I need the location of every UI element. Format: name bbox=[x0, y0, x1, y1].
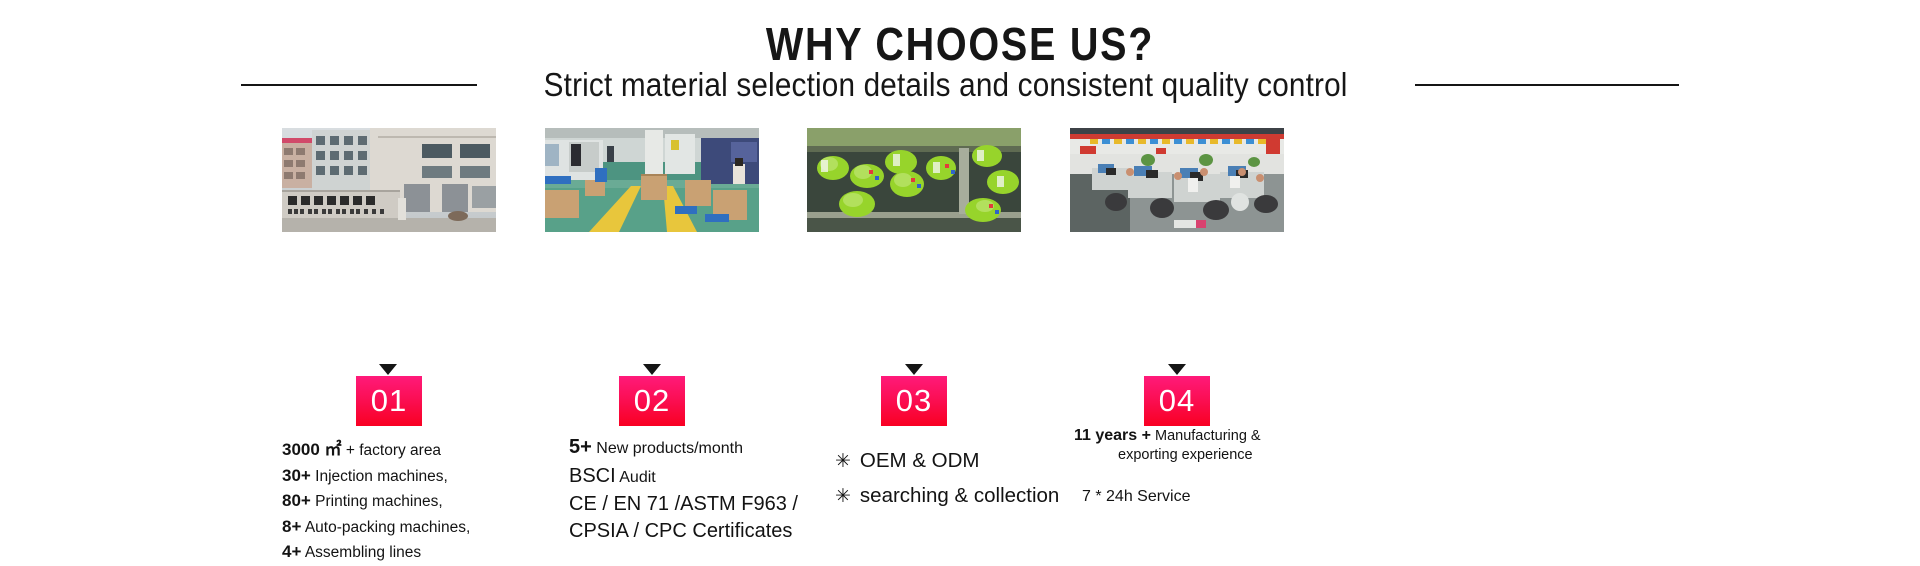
feature-column-4: 04 11 years + Manufacturing & exporting … bbox=[1070, 128, 1284, 232]
fact-item: ✳OEM & ODM bbox=[835, 444, 1059, 479]
down-arrow-icon-2 bbox=[643, 364, 661, 375]
step-badge-3: 03 bbox=[881, 376, 947, 426]
fact-item: 8+ Auto-packing machines, bbox=[282, 515, 470, 541]
facts-list-3: ✳OEM & ODM ✳searching & collection bbox=[835, 444, 1059, 514]
step-badge-2: 02 bbox=[619, 376, 685, 426]
fact-lead: 30+ bbox=[282, 466, 311, 485]
fact-lead: 11 years + bbox=[1074, 427, 1151, 444]
step-badge-4: 04 bbox=[1144, 376, 1210, 426]
page-title: WHY CHOOSE US? bbox=[134, 20, 1785, 68]
why-choose-us-banner: WHY CHOOSE US? Strict material selection… bbox=[0, 0, 1920, 514]
fact-item: ✳searching & collection bbox=[835, 479, 1059, 514]
fact-item: 3000 ㎡ + factory area bbox=[282, 438, 470, 464]
fact-item: 7 * 24h Service bbox=[1074, 487, 1261, 507]
fact-lead: 5+ bbox=[569, 436, 592, 458]
fact-rest: + factory area bbox=[342, 442, 442, 459]
step-badge-1: 01 bbox=[356, 376, 422, 426]
photo-conveyor-products bbox=[807, 128, 1021, 232]
fact-rest: Assembling lines bbox=[301, 544, 421, 561]
photo-office-workspace bbox=[1070, 128, 1284, 232]
fact-text: OEM & ODM bbox=[860, 449, 980, 472]
fact-rest: Auto-packing machines, bbox=[301, 519, 470, 536]
fact-item: BSCI Audit bbox=[569, 463, 798, 492]
asterisk-bullet-icon: ✳ bbox=[835, 486, 851, 507]
fact-item: 4+ Assembling lines bbox=[282, 540, 470, 566]
fact-rest: Manufacturing & bbox=[1151, 428, 1261, 444]
fact-lead: 3000 ㎡ bbox=[282, 440, 342, 459]
fact-rest: New products/month bbox=[592, 440, 743, 457]
spacer bbox=[1074, 465, 1261, 487]
feature-column-3: 03 ✳OEM & ODM ✳searching & collection bbox=[807, 128, 1021, 232]
down-arrow-icon-1 bbox=[379, 364, 397, 375]
fact-rest: Injection machines, bbox=[311, 468, 448, 485]
fact-rest: Audit bbox=[616, 469, 656, 486]
subtitle-row: Strict material selection details and co… bbox=[0, 66, 1920, 104]
fact-lead: 80+ bbox=[282, 491, 311, 510]
feature-column-1: 01 3000 ㎡ + factory area 30+ Injection m… bbox=[282, 128, 496, 232]
fact-lead: BSCI bbox=[569, 465, 616, 487]
fact-text: searching & collection bbox=[860, 484, 1059, 507]
facts-list-2: 5+ New products/month BSCI Audit CE / EN… bbox=[569, 434, 798, 544]
fact-lead: 8+ bbox=[282, 517, 301, 536]
facts-list-1: 3000 ㎡ + factory area 30+ Injection mach… bbox=[282, 438, 470, 566]
fact-lead: 4+ bbox=[282, 542, 301, 561]
photo-production-floor bbox=[545, 128, 759, 232]
fact-item: 80+ Printing machines, bbox=[282, 489, 470, 515]
fact-lead: CE / EN 71 /ASTM F963 / bbox=[569, 493, 798, 515]
asterisk-bullet-icon: ✳ bbox=[835, 451, 851, 472]
down-arrow-icon-3 bbox=[905, 364, 923, 375]
fact-rest: Printing machines, bbox=[311, 493, 443, 510]
fact-item: CPSIA / CPC Certificates bbox=[569, 518, 798, 545]
rule-left bbox=[241, 84, 477, 86]
fact-item: 11 years + Manufacturing & exporting exp… bbox=[1074, 426, 1261, 465]
fact-rest-2: exporting experience bbox=[1074, 446, 1261, 465]
fact-lead: CPSIA / CPC Certificates bbox=[569, 520, 792, 542]
down-arrow-icon-4 bbox=[1168, 364, 1186, 375]
facts-list-4: 11 years + Manufacturing & exporting exp… bbox=[1074, 426, 1261, 507]
fact-item: 5+ New products/month bbox=[569, 434, 798, 463]
feature-column-2: 02 5+ New products/month BSCI Audit CE /… bbox=[545, 128, 759, 232]
rule-right bbox=[1415, 84, 1679, 86]
fact-item: 30+ Injection machines, bbox=[282, 464, 470, 490]
fact-service: 7 * 24h Service bbox=[1074, 488, 1191, 505]
page-subtitle: Strict material selection details and co… bbox=[544, 66, 1348, 104]
photo-factory-exterior bbox=[282, 128, 496, 232]
